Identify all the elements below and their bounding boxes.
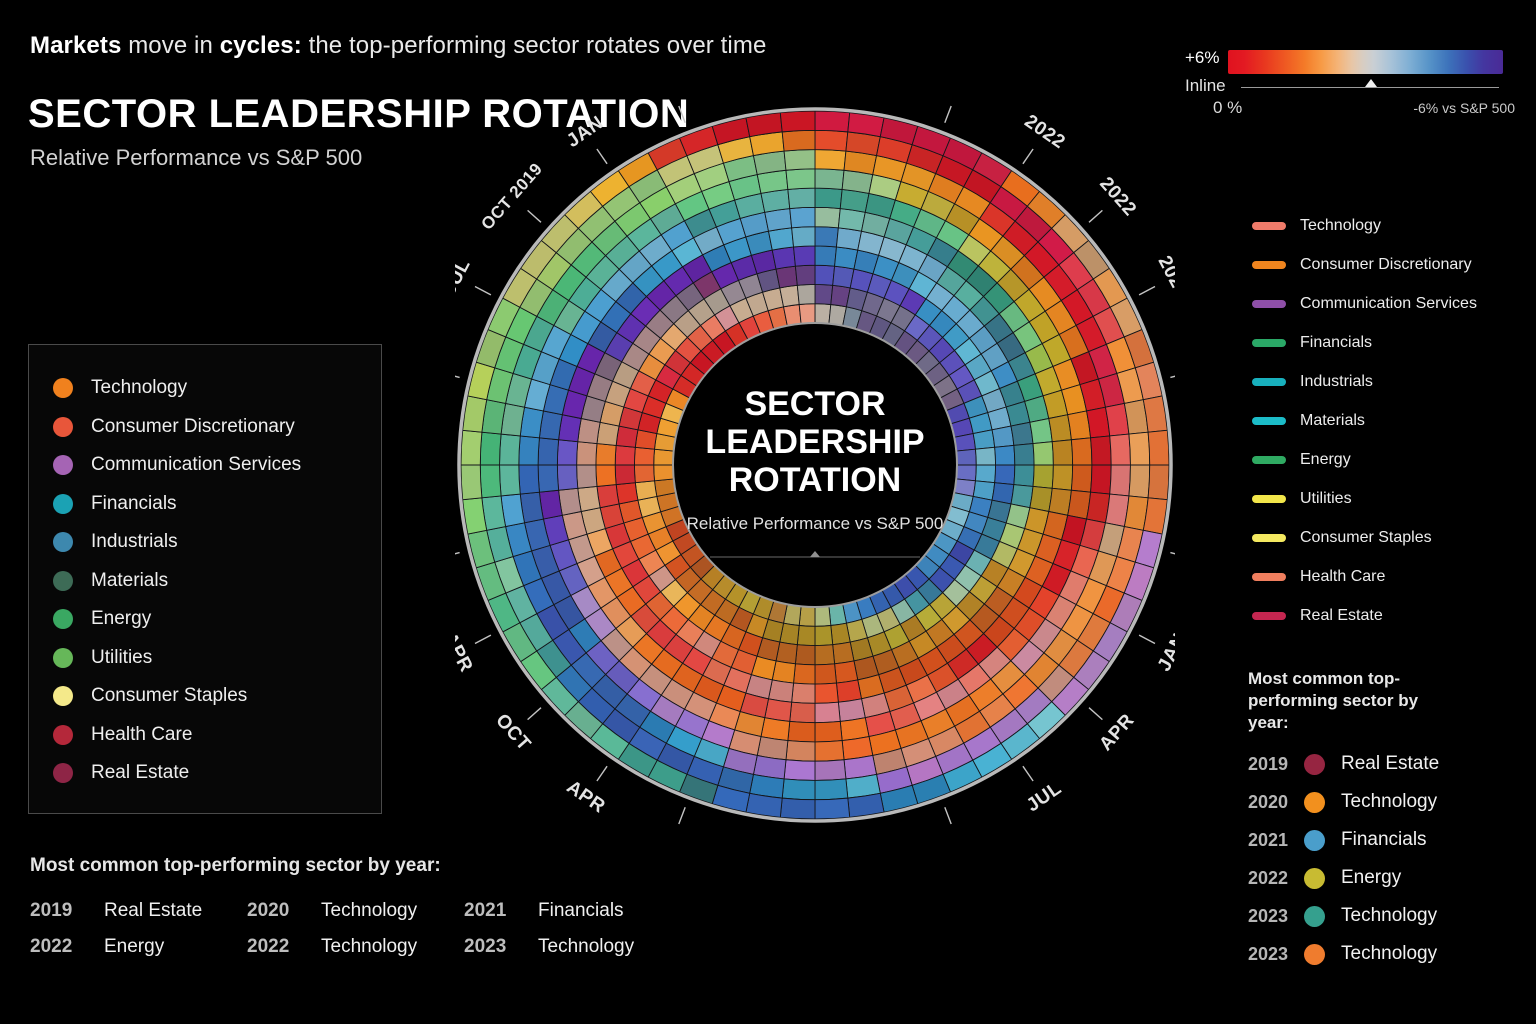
top-sector-by-year-panel-bottom: Most common top-performing sector by yea… xyxy=(30,855,690,965)
heatmap-cell[interactable] xyxy=(788,188,815,209)
legend-left-label: Materials xyxy=(91,570,168,592)
heatmap-cell[interactable] xyxy=(1014,444,1034,465)
row-year: 2023 xyxy=(1248,906,1304,927)
heatmap-cell[interactable] xyxy=(815,188,842,209)
legend-left-item-technology[interactable]: Technology xyxy=(53,377,187,399)
heatmap-cell[interactable] xyxy=(995,465,1015,485)
legend-right-label: Consumer Discretionary xyxy=(1300,256,1472,274)
row-sector-name: Financials xyxy=(1341,829,1427,851)
heatmap-cell[interactable] xyxy=(597,485,619,508)
legend-right-label: Health Care xyxy=(1300,568,1385,586)
top-sector-by-year-panel-right: Most common top- performing sector by ye… xyxy=(1248,668,1536,992)
heatmap-cell[interactable] xyxy=(1129,432,1150,465)
heatmap-cell[interactable] xyxy=(784,150,815,171)
legend-color-dash-icon xyxy=(1252,222,1286,230)
page-subtitle: Relative Performance vs S&P 500 xyxy=(30,145,362,171)
axis-tick xyxy=(945,807,951,824)
heading-line-1: Most common top- xyxy=(1248,668,1458,690)
year-sector-row: 2023Technology xyxy=(1248,942,1437,966)
radial-sector-rotation-chart: SECTOR LEADERSHIP ROTATION Relative Perf… xyxy=(455,105,1175,825)
row-sector-name: Real Estate xyxy=(1341,753,1439,775)
row-sector-name: Energy xyxy=(1341,867,1401,889)
bottom-panel-row: 2022Energy2022Technology2023Technology xyxy=(30,929,690,965)
heatmap-cell[interactable] xyxy=(833,642,854,664)
legend-color-dot-icon xyxy=(53,648,73,668)
heatmap-cell[interactable] xyxy=(799,606,815,626)
heatmap-cell[interactable] xyxy=(634,447,654,465)
row-color-dot-icon xyxy=(1304,792,1325,813)
legend-color-dash-icon xyxy=(1252,534,1286,542)
heatmap-cell[interactable] xyxy=(831,623,850,645)
legend-color-dot-icon xyxy=(53,494,73,514)
heatmap-cell[interactable] xyxy=(615,465,635,485)
heatmap-cell[interactable] xyxy=(992,426,1014,447)
center-title-line3: ROTATION xyxy=(729,461,902,499)
row-year: 2022 xyxy=(1248,868,1304,889)
heatmap-cell[interactable] xyxy=(815,130,848,151)
heatmap-cell[interactable] xyxy=(616,483,638,504)
legend-right-label: Technology xyxy=(1300,217,1381,235)
legend-left-label: Consumer Discretionary xyxy=(91,416,295,438)
colorbar-inline-label: Inline xyxy=(1185,76,1226,96)
legend-right-label: Financials xyxy=(1300,334,1372,352)
heatmap-cell[interactable] xyxy=(615,445,635,465)
heatmap-cell[interactable] xyxy=(769,680,794,702)
axis-tick xyxy=(1023,766,1033,781)
kicker-bold-markets: Markets xyxy=(30,32,121,59)
legend-color-dash-icon xyxy=(1252,573,1286,581)
heatmap-cell[interactable] xyxy=(480,465,501,498)
legend-color-dot-icon xyxy=(53,725,73,745)
heatmap-cell[interactable] xyxy=(815,227,838,247)
angular-axis-label: JAN xyxy=(1154,630,1175,675)
legend-right-item-energy[interactable]: Energy xyxy=(1252,450,1351,470)
legend-right-label: Energy xyxy=(1300,451,1351,469)
heatmap-cell[interactable] xyxy=(790,702,815,722)
year-sector-row: 2019Real Estate xyxy=(1248,752,1439,776)
legend-right-item-real-estate[interactable]: Real Estate xyxy=(1252,606,1383,626)
heatmap-cell[interactable] xyxy=(784,760,815,781)
legend-right-item-industrials[interactable]: Industrials xyxy=(1252,372,1373,392)
legend-left-label: Consumer Staples xyxy=(91,685,247,707)
year-sector-row: 2020Technology xyxy=(1248,790,1437,814)
heatmap-cell[interactable] xyxy=(1129,465,1150,498)
heatmap-cell[interactable] xyxy=(786,169,815,190)
colorbar-tick-marker xyxy=(1365,79,1377,87)
legend-color-dot-icon xyxy=(53,455,73,475)
heatmap-cell[interactable] xyxy=(815,645,835,665)
heatmap-cell[interactable] xyxy=(815,683,838,703)
axis-tick xyxy=(1023,149,1033,164)
bottom-panel-grid: 2019Real Estate2020Technology2021Financi… xyxy=(30,893,690,965)
cell-year: 2021 xyxy=(464,900,538,922)
heatmap-cell[interactable] xyxy=(1011,422,1033,445)
heatmap-cell[interactable] xyxy=(815,741,844,762)
heatmap-cell[interactable] xyxy=(815,626,833,646)
heatmap-cell[interactable] xyxy=(480,432,501,465)
heatmap-cell[interactable] xyxy=(654,449,674,465)
year-sector-cell: 2019Real Estate xyxy=(30,900,247,922)
legend-right-item-communication-services[interactable]: Communication Services xyxy=(1252,294,1477,314)
year-sector-cell: 2020Technology xyxy=(247,900,464,922)
angular-axis-label: APR xyxy=(563,777,609,818)
legend-color-dot-icon xyxy=(53,571,73,591)
cell-year: 2019 xyxy=(30,900,104,922)
heatmap-cell[interactable] xyxy=(815,664,836,684)
legend-color-dot-icon xyxy=(53,609,73,629)
heatmap-cell[interactable] xyxy=(782,779,815,800)
cell-year: 2022 xyxy=(247,936,321,958)
axis-tick xyxy=(945,106,951,123)
heatmap-cell[interactable] xyxy=(792,227,815,247)
legend-color-dash-icon xyxy=(1252,612,1286,620)
legend-right-label: Utilities xyxy=(1300,490,1352,508)
heatmap-cell[interactable] xyxy=(654,465,674,481)
cell-sector-name: Real Estate xyxy=(104,900,202,922)
row-color-dot-icon xyxy=(1304,754,1325,775)
cell-year: 2022 xyxy=(30,936,104,958)
angular-axis-label: JAN xyxy=(563,112,607,152)
colorbar-max-label: +6% xyxy=(1185,48,1220,68)
legend-right-item-technology[interactable]: Technology xyxy=(1252,216,1381,236)
colorbar-legend: +6% Inline 0 % -6% vs S&P 500 xyxy=(1185,48,1515,128)
angular-axis-label: OCT 2019 xyxy=(477,159,546,233)
cell-sector-name: Technology xyxy=(321,936,417,958)
legend-color-dot-icon xyxy=(53,763,73,783)
legend-right-label: Communication Services xyxy=(1300,295,1477,313)
heatmap-cell[interactable] xyxy=(815,207,840,227)
heatmap-cell[interactable] xyxy=(792,683,815,703)
heatmap-cell[interactable] xyxy=(500,434,521,465)
heatmap-cell[interactable] xyxy=(1110,434,1131,465)
row-color-dot-icon xyxy=(1304,830,1325,851)
axis-tick xyxy=(679,106,685,123)
axis-tick xyxy=(597,149,607,164)
heatmap-cell[interactable] xyxy=(815,760,846,781)
heatmap-cell[interactable] xyxy=(772,247,795,269)
heatmap-cell[interactable] xyxy=(815,284,833,304)
heatmap-cell[interactable] xyxy=(634,465,654,483)
legend-left-item-financials[interactable]: Financials xyxy=(53,493,177,515)
angular-axis-label: JUL xyxy=(1023,778,1066,817)
year-sector-cell: 2023Technology xyxy=(464,936,681,958)
heatmap-cell[interactable] xyxy=(1052,440,1072,465)
heatmap-cell[interactable] xyxy=(815,304,831,324)
infographic-canvas: Markets move in cycles: the top-performi… xyxy=(0,0,1536,1024)
kicker-mid: move in xyxy=(121,32,219,59)
center-title-line1: SECTOR xyxy=(744,385,885,423)
legend-right-label: Materials xyxy=(1300,412,1365,430)
heatmap-cell[interactable] xyxy=(1052,465,1072,490)
heatmap-cell[interactable] xyxy=(794,664,815,684)
heatmap-cell[interactable] xyxy=(461,465,482,500)
heatmap-cell[interactable] xyxy=(596,444,616,465)
angular-axis-label: JUL xyxy=(455,256,475,299)
year-sector-row: 2022Energy xyxy=(1248,866,1401,890)
angular-axis-label: 2022 xyxy=(1021,111,1069,153)
colorbar-zero-label: 0 % xyxy=(1213,98,1242,118)
heatmap-cell[interactable] xyxy=(790,207,815,227)
legend-left-label: Real Estate xyxy=(91,762,189,784)
heatmap-cell[interactable] xyxy=(835,661,858,683)
angular-axis-label: 2024 xyxy=(1154,253,1175,302)
heatmap-cell[interactable] xyxy=(578,419,600,444)
legend-left-item-communication-services[interactable]: Communication Services xyxy=(53,454,301,476)
axis-tick xyxy=(679,807,685,824)
heatmap-cell[interactable] xyxy=(1071,465,1092,492)
row-sector-name: Technology xyxy=(1341,943,1437,965)
legend-left-item-consumer-staples[interactable]: Consumer Staples xyxy=(53,685,247,707)
heatmap-cell[interactable] xyxy=(461,430,482,465)
axis-tick xyxy=(475,287,491,295)
heatmap-cell[interactable] xyxy=(577,442,597,465)
heatmap-cell[interactable] xyxy=(1091,436,1112,465)
heatmap-cell[interactable] xyxy=(794,246,815,266)
sector-legend-right: TechnologyConsumer DiscretionaryCommunic… xyxy=(1252,212,1536,632)
legend-left-item-health-care[interactable]: Health Care xyxy=(53,724,192,746)
colorbar-min-label: -6% vs S&P 500 xyxy=(1413,100,1515,116)
cell-sector-name: Energy xyxy=(104,936,164,958)
cell-sector-name: Technology xyxy=(538,936,634,958)
heatmap-cell[interactable] xyxy=(782,130,815,151)
heatmap-cell[interactable] xyxy=(795,265,815,285)
row-year: 2021 xyxy=(1248,830,1304,851)
kicker-bold-cycles: cycles: xyxy=(220,32,302,59)
legend-color-dot-icon xyxy=(53,417,73,437)
axis-tick xyxy=(1089,708,1102,720)
heatmap-cell[interactable] xyxy=(780,285,799,307)
heatmap-cell[interactable] xyxy=(976,447,996,465)
heatmap-cell[interactable] xyxy=(815,265,835,285)
row-year: 2020 xyxy=(1248,792,1304,813)
heatmap-cell[interactable] xyxy=(956,449,976,465)
legend-left-item-consumer-discretionary[interactable]: Consumer Discretionary xyxy=(53,416,295,438)
center-title-line2: LEADERSHIP xyxy=(705,423,924,461)
axis-tick xyxy=(1170,373,1175,377)
heatmap-cell[interactable] xyxy=(1071,438,1092,465)
legend-color-dot-icon xyxy=(53,686,73,706)
cell-sector-name: Financials xyxy=(538,900,624,922)
heatmap-cell[interactable] xyxy=(769,228,794,250)
row-color-dot-icon xyxy=(1304,906,1325,927)
angular-axis-label: OCT xyxy=(491,710,534,755)
axis-tick xyxy=(528,708,541,720)
heatmap-cell[interactable] xyxy=(578,486,600,511)
heatmap-cell[interactable] xyxy=(557,465,577,490)
legend-color-dash-icon xyxy=(1252,495,1286,503)
heatmap-cell[interactable] xyxy=(815,111,850,132)
angular-axis-label: APR xyxy=(455,629,477,676)
heatmap-cell[interactable] xyxy=(815,702,840,722)
heatmap-cell[interactable] xyxy=(973,430,995,449)
axis-tick xyxy=(1139,635,1155,643)
legend-right-label: Industrials xyxy=(1300,373,1373,391)
heatmap-cell[interactable] xyxy=(538,465,559,492)
year-sector-row: 2021Financials xyxy=(1248,828,1427,852)
cell-year: 2023 xyxy=(464,936,538,958)
legend-right-item-financials[interactable]: Financials xyxy=(1252,333,1372,353)
legend-left-label: Communication Services xyxy=(91,454,301,476)
colorbar-gradient xyxy=(1228,50,1503,74)
legend-left-item-energy[interactable]: Energy xyxy=(53,608,151,630)
colorbar-rule xyxy=(1241,87,1499,88)
legend-color-dash-icon xyxy=(1252,261,1286,269)
axis-tick xyxy=(1170,553,1175,557)
heatmap-cell[interactable] xyxy=(797,626,815,646)
legend-color-dash-icon xyxy=(1252,300,1286,308)
legend-right-item-consumer-discretionary[interactable]: Consumer Discretionary xyxy=(1252,255,1472,275)
bottom-panel-row: 2019Real Estate2020Technology2021Financi… xyxy=(30,893,690,929)
legend-left-label: Technology xyxy=(91,377,187,399)
heatmap-cell[interactable] xyxy=(815,150,846,171)
row-sector-name: Technology xyxy=(1341,791,1437,813)
top-sector-rows: 2019Real Estate2020Technology2021Financi… xyxy=(1248,752,1536,992)
kicker-rest: the top-performing sector rotates over t… xyxy=(302,32,767,59)
page-kicker: Markets move in cycles: the top-performi… xyxy=(30,32,766,60)
center-subtitle: Relative Performance vs S&P 500 xyxy=(687,514,944,533)
legend-right-item-materials[interactable]: Materials xyxy=(1252,411,1365,431)
heatmap-cell[interactable] xyxy=(596,465,616,486)
heatmap-cell[interactable] xyxy=(1014,465,1034,486)
legend-right-item-utilities[interactable]: Utilities xyxy=(1252,489,1352,509)
legend-left-item-materials[interactable]: Materials xyxy=(53,570,168,592)
angular-axis-label: 2022 xyxy=(1095,173,1140,220)
legend-left-label: Utilities xyxy=(91,647,152,669)
heatmap-cell[interactable] xyxy=(519,436,540,465)
legend-color-dash-icon xyxy=(1252,378,1286,386)
bottom-panel-heading: Most common top-performing sector by yea… xyxy=(30,855,690,877)
heatmap-cell[interactable] xyxy=(1091,465,1112,494)
axis-tick xyxy=(455,373,460,377)
heatmap-cell[interactable] xyxy=(815,606,831,626)
heatmap-cell[interactable] xyxy=(976,465,996,483)
heatmap-cell[interactable] xyxy=(1148,430,1169,465)
legend-color-dash-icon xyxy=(1252,456,1286,464)
heatmap-cell[interactable] xyxy=(635,481,657,500)
axis-tick xyxy=(475,635,491,643)
heatmap-cell[interactable] xyxy=(1110,465,1131,496)
donut-heatmap-svg: SECTOR LEADERSHIP ROTATION Relative Perf… xyxy=(455,105,1175,825)
legend-color-dot-icon xyxy=(53,378,73,398)
year-sector-cell: 2022Energy xyxy=(30,936,247,958)
heatmap-cell[interactable] xyxy=(1033,442,1053,465)
year-sector-cell: 2021Financials xyxy=(464,900,681,922)
axis-tick xyxy=(1139,287,1155,295)
cell-sector-name: Technology xyxy=(321,900,417,922)
heatmap-cell[interactable] xyxy=(780,111,815,132)
heatmap-cell[interactable] xyxy=(995,445,1015,465)
heatmap-cell[interactable] xyxy=(1030,419,1052,444)
heatmap-cell[interactable] xyxy=(557,440,577,465)
legend-left-item-utilities[interactable]: Utilities xyxy=(53,647,152,669)
row-year: 2023 xyxy=(1248,944,1304,965)
heatmap-cell[interactable] xyxy=(538,438,559,465)
heatmap-cell[interactable] xyxy=(519,465,540,494)
row-sector-name: Technology xyxy=(1341,905,1437,927)
heatmap-cell[interactable] xyxy=(956,465,976,481)
legend-color-dash-icon xyxy=(1252,339,1286,347)
legend-right-item-consumer-staples[interactable]: Consumer Staples xyxy=(1252,528,1432,548)
legend-left-item-industrials[interactable]: Industrials xyxy=(53,531,178,553)
heatmap-cell[interactable] xyxy=(577,465,597,488)
row-year: 2019 xyxy=(1248,754,1304,775)
cell-year: 2020 xyxy=(247,900,321,922)
heatmap-cell[interactable] xyxy=(780,798,815,819)
heatmap-cell[interactable] xyxy=(1030,486,1052,511)
heatmap-cell[interactable] xyxy=(795,645,815,665)
legend-left-label: Industrials xyxy=(91,531,178,553)
legend-right-item-health-care[interactable]: Health Care xyxy=(1252,567,1385,587)
heading-line-2: performing sector by year: xyxy=(1248,690,1458,734)
axis-tick xyxy=(528,210,541,222)
legend-left-label: Health Care xyxy=(91,724,192,746)
legend-color-dot-icon xyxy=(53,532,73,552)
angular-axis-label: APR xyxy=(1095,710,1138,755)
axis-tick xyxy=(455,553,460,557)
top-sector-panel-heading: Most common top- performing sector by ye… xyxy=(1248,668,1458,734)
axis-tick xyxy=(597,766,607,781)
heatmap-cell[interactable] xyxy=(815,798,850,819)
legend-left-label: Energy xyxy=(91,608,151,630)
heatmap-cell[interactable] xyxy=(776,266,797,288)
legend-left-label: Financials xyxy=(91,493,177,515)
legend-right-label: Consumer Staples xyxy=(1300,529,1432,547)
heatmap-cell[interactable] xyxy=(836,228,861,250)
legend-color-dash-icon xyxy=(1252,417,1286,425)
heatmap-cell[interactable] xyxy=(815,169,844,190)
heatmap-cell[interactable] xyxy=(815,246,836,266)
heatmap-cell[interactable] xyxy=(815,721,842,742)
axis-tick xyxy=(1089,210,1102,222)
row-color-dot-icon xyxy=(1304,944,1325,965)
heatmap-cell[interactable] xyxy=(500,465,521,496)
year-sector-cell: 2022Technology xyxy=(247,936,464,958)
sector-legend-left: TechnologyConsumer DiscretionaryCommunic… xyxy=(28,344,382,814)
legend-right-label: Real Estate xyxy=(1300,607,1383,625)
heatmap-cell[interactable] xyxy=(1033,465,1053,488)
heatmap-cell[interactable] xyxy=(788,721,815,742)
legend-left-item-real-estate[interactable]: Real Estate xyxy=(53,762,189,784)
heatmap-cell[interactable] xyxy=(815,779,848,800)
heatmap-cell[interactable] xyxy=(786,741,815,762)
row-color-dot-icon xyxy=(1304,868,1325,889)
year-sector-row: 2023Technology xyxy=(1248,904,1437,928)
heatmap-cell[interactable] xyxy=(799,304,815,324)
heatmap-cell[interactable] xyxy=(797,284,815,304)
heatmap-cell[interactable] xyxy=(1148,465,1169,500)
heatmap-cell[interactable] xyxy=(836,680,861,702)
